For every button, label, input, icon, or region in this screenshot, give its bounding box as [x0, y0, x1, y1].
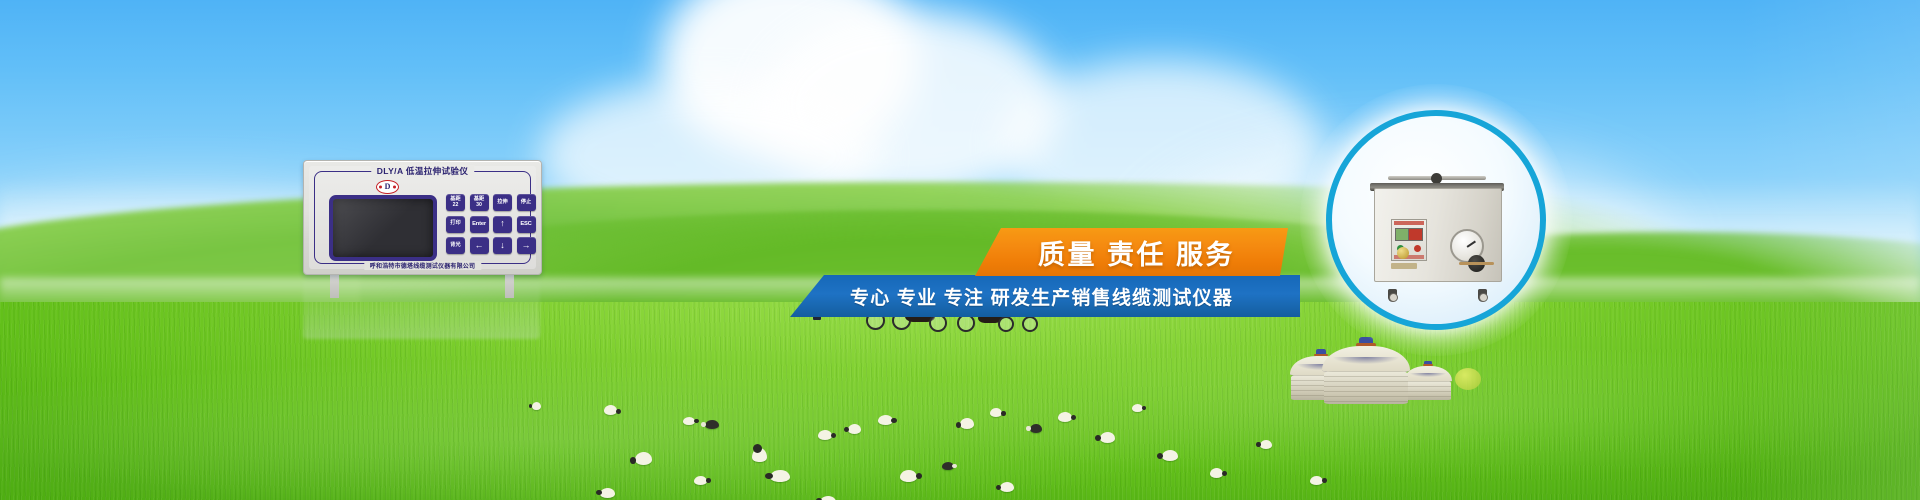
- cart-wheel: [998, 316, 1014, 332]
- key-jiju30[interactable]: 基距 30: [470, 194, 489, 211]
- key-stretch[interactable]: 拉伸: [493, 194, 512, 211]
- shrub: [1455, 368, 1481, 390]
- chamber-nameplate: [1391, 263, 1417, 269]
- meadow: [0, 302, 1920, 500]
- key-stop[interactable]: 停止: [517, 194, 536, 211]
- arrow-down-icon[interactable]: ↓: [493, 237, 512, 254]
- instrument-dly-a: DLY/A 低温拉伸试验仪 呼和浩特市德塔线缆测试仪器有限公司 D 基距 22 …: [303, 160, 542, 275]
- headline-text: 质量 责任 服务: [1028, 233, 1235, 272]
- panel-knob-red: [1414, 245, 1421, 252]
- product-circle: [1326, 110, 1546, 330]
- key-esc[interactable]: ESC: [517, 216, 536, 233]
- chamber-body: [1374, 188, 1502, 282]
- logo-letter: D: [385, 183, 391, 191]
- key-backlight[interactable]: 背光: [446, 237, 465, 254]
- headline-banner: 质量 责任 服务: [975, 228, 1288, 276]
- cloud-shape: [660, 0, 920, 160]
- instrument-lcd-screen: [329, 195, 437, 261]
- instrument-company-label: 呼和浩特市德塔线缆测试仪器有限公司: [364, 261, 481, 270]
- yurt-roof: [1322, 346, 1410, 374]
- subline-banner: 专心 专业 专注 研发生产销售线缆测试仪器: [790, 275, 1300, 317]
- chamber-valve: [1468, 255, 1485, 272]
- cart-wheel: [1022, 316, 1038, 332]
- chamber-caster: [1388, 289, 1397, 302]
- key-enter[interactable]: Enter: [470, 216, 489, 233]
- hero-banner: DLY/A 低温拉伸试验仪 呼和浩特市德塔线缆测试仪器有限公司 D 基距 22 …: [0, 0, 1920, 500]
- yurt-wall: [1405, 381, 1451, 400]
- arrow-right-icon[interactable]: →: [517, 237, 536, 254]
- chamber-lid-handle: [1388, 176, 1486, 180]
- yurt: [1404, 366, 1452, 400]
- arrow-left-icon[interactable]: ←: [470, 237, 489, 254]
- instrument-leg: [330, 272, 339, 298]
- brand-logo-icon: D: [376, 180, 399, 194]
- arrow-up-icon[interactable]: ↑: [493, 216, 512, 233]
- yurt-wall: [1324, 371, 1409, 404]
- steam-aging-chamber: [1366, 172, 1508, 292]
- chamber-badge: [1397, 247, 1409, 259]
- subline-text: 专心 专业 专注 研发生产销售线缆测试仪器: [850, 283, 1233, 310]
- instrument-leg: [505, 272, 514, 298]
- panel-display-red: [1408, 228, 1423, 241]
- cloud-shape: [760, 10, 1060, 200]
- chamber-caster: [1478, 289, 1487, 302]
- key-jiju22[interactable]: 基距 22: [446, 194, 465, 211]
- instrument-keypad[interactable]: 基距 22 基距 30 拉伸 停止 打印 Enter ↑ ESC 背光 ← ↓ …: [446, 194, 536, 254]
- yurt: [1322, 346, 1410, 404]
- panel-label-strip: [1394, 221, 1424, 225]
- instrument-model-label: DLY/A 低温拉伸试验仪: [371, 165, 474, 177]
- key-print[interactable]: 打印: [446, 216, 465, 233]
